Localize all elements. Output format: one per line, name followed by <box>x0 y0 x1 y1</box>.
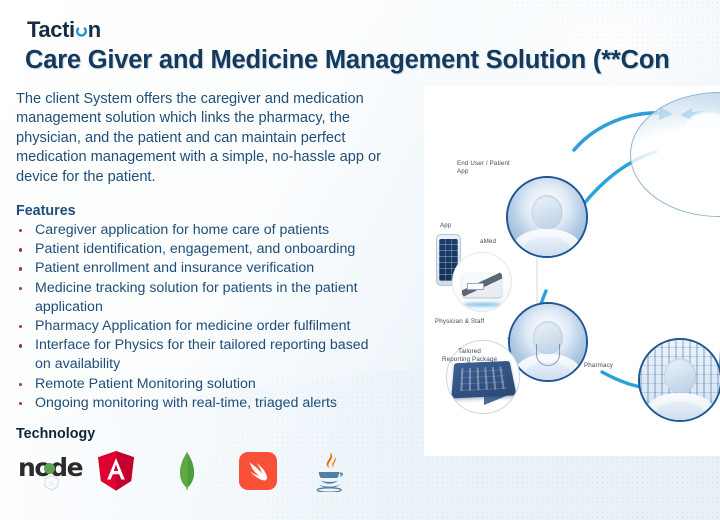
technology-logo-row: node JS <box>18 447 356 495</box>
bullet-icon <box>19 402 22 405</box>
list-item: Ongoing monitoring with real-time, triag… <box>16 394 388 413</box>
svg-text:JS: JS <box>48 482 54 488</box>
patient-avatar <box>506 176 588 258</box>
bullet-icon <box>19 229 22 232</box>
care-giver-architecture-diagram: End User / Patient App App aMed Physicia… <box>424 86 720 456</box>
node-js-logo: node JS <box>18 447 72 495</box>
circular-arc-o-icon <box>75 24 88 37</box>
angularjs-logo <box>89 447 143 495</box>
swift-badge <box>239 452 277 490</box>
features-list: Caregiver application for home care of p… <box>16 221 388 413</box>
feature-text: Interface for Physics for their tailored… <box>35 337 369 372</box>
diagram-label-pharmacy: Pharmacy <box>584 362 613 370</box>
node-js-dot-icon <box>44 463 55 474</box>
diagram-label-tailored-reporting-package: Tailored Reporting Package <box>442 348 497 365</box>
java-logo <box>302 447 356 495</box>
bullet-icon <box>19 287 22 290</box>
slide-canvas: Tacti n Care Giver and Medicine Manageme… <box>0 0 720 520</box>
diagram-label-end-user-patient-app: End User / Patient App <box>457 160 510 177</box>
tablet-screen <box>451 361 517 399</box>
mongodb-leaf-logo <box>160 447 214 495</box>
angularjs-shield-icon <box>96 450 136 492</box>
taction-logo[interactable]: Tacti n <box>27 17 101 43</box>
java-cup-icon <box>311 450 347 492</box>
avatar-head <box>531 195 562 229</box>
features-heading: Features <box>16 203 76 219</box>
avatar-shoulders <box>524 237 571 258</box>
feature-text: Caregiver application for home care of p… <box>35 222 329 238</box>
swift-bird-icon <box>245 458 271 484</box>
page-title: Care Giver and Medicine Management Solut… <box>25 45 720 76</box>
diagram-label-app: App <box>440 222 451 230</box>
bullet-icon <box>19 267 22 270</box>
feature-text: Pharmacy Application for medicine order … <box>35 318 350 334</box>
list-item: Interface for Physics for their tailored… <box>16 336 388 374</box>
swift-logo <box>231 447 285 495</box>
amed-slot <box>467 283 484 289</box>
amed-device <box>452 252 512 312</box>
logo-text-after: n <box>88 19 101 41</box>
cloud-puff <box>683 111 720 155</box>
list-item: Remote Patient Monitoring solution <box>16 375 388 394</box>
amed-indicator-light <box>463 303 500 306</box>
list-item: Medicine tracking solution for patients … <box>16 279 388 317</box>
intro-paragraph: The client System offers the caregiver a… <box>16 90 382 187</box>
avatar-shoulders <box>656 401 704 422</box>
list-item: Patient enrollment and insurance verific… <box>16 259 388 278</box>
technology-heading: Technology <box>16 426 95 442</box>
diagram-label-physician-staff: Physician & Staff <box>435 318 484 326</box>
feature-text: Patient identification, engagement, and … <box>35 241 355 257</box>
bullet-icon <box>19 325 22 328</box>
list-item: Caregiver application for home care of p… <box>16 221 388 240</box>
bullet-icon <box>19 344 22 347</box>
tablet-report-chart <box>461 367 507 391</box>
feature-text: Medicine tracking solution for patients … <box>35 280 358 315</box>
node-js-hexagon-icon: JS <box>44 475 59 496</box>
logo-text-before: Tacti <box>27 19 75 41</box>
avatar-head <box>664 358 696 393</box>
list-item: Pharmacy Application for medicine order … <box>16 317 388 336</box>
pharmacist-avatar <box>638 338 720 422</box>
physician-avatar <box>508 302 588 382</box>
bullet-icon <box>19 248 22 251</box>
diagram-label-amed: aMed <box>480 238 496 246</box>
feature-text: Remote Patient Monitoring solution <box>35 376 256 392</box>
mongodb-leaf-icon <box>177 451 197 491</box>
feature-text: Patient enrollment and insurance verific… <box>35 260 314 276</box>
list-item: Patient identification, engagement, and … <box>16 240 388 259</box>
bullet-icon <box>19 383 22 386</box>
feature-text: Ongoing monitoring with real-time, triag… <box>35 395 337 411</box>
